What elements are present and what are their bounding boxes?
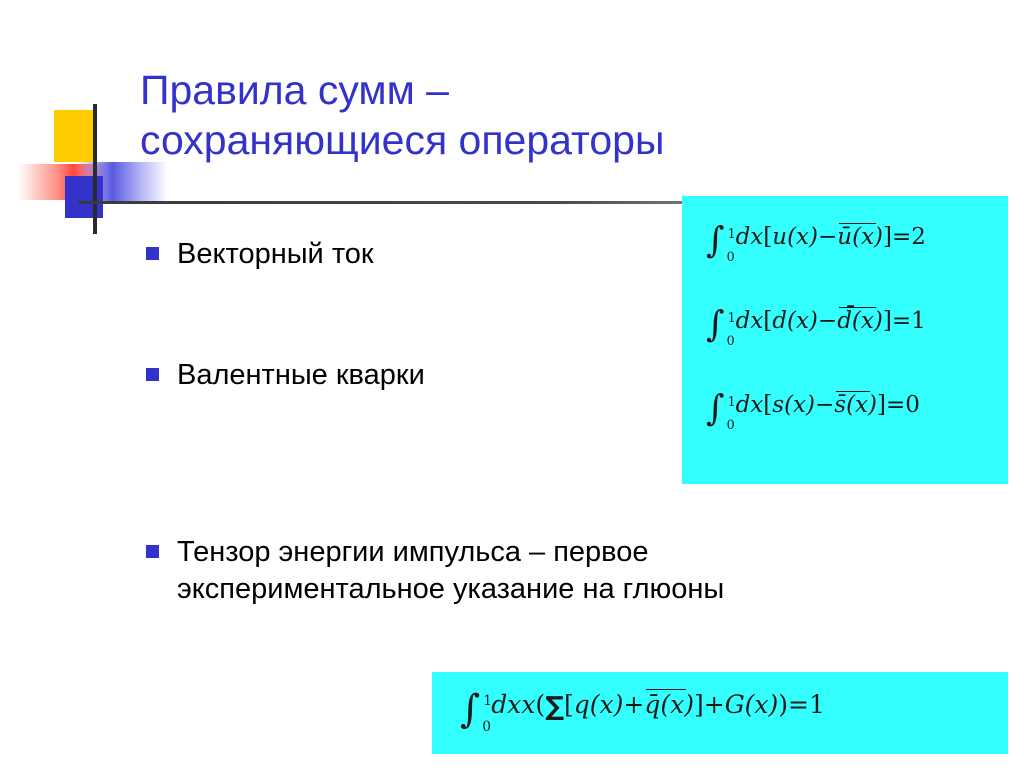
integral-sign: ∫: [706, 395, 725, 424]
term-qbar: q̄(x): [644, 690, 694, 719]
value: 1: [809, 690, 825, 719]
term-sbar: s̄(x): [834, 392, 877, 418]
plus-sign-2: +: [704, 690, 725, 719]
title-line-1: Правила сумм –: [140, 65, 940, 115]
list-item: Векторный ток: [146, 236, 374, 273]
bullet-marker-icon: [146, 368, 159, 381]
bullet-text: Тензор энергии импульса – первое экспери…: [177, 534, 846, 608]
list-item: Валентные кварки: [146, 357, 425, 394]
equation-momentum-sum-rule: ∫10dxx(∑[q(x)+q̄(x)]+G(x))=1: [460, 690, 825, 725]
blue-square: [65, 176, 103, 218]
decorative-corner-motif: [18, 104, 158, 234]
value: 1: [911, 308, 926, 334]
close-bracket: ]: [694, 690, 704, 719]
term-s: s(x): [772, 392, 815, 418]
close-bracket: ]: [883, 224, 892, 250]
differential: dx: [736, 392, 764, 418]
title-line-2: сохраняющиеся операторы: [140, 115, 940, 165]
differential: dx: [736, 308, 764, 334]
equals-sign: =: [892, 308, 911, 334]
list-item: Тензор энергии импульса – первое экспери…: [146, 534, 846, 608]
value: 0: [905, 392, 920, 418]
term-ubar: ū(x): [837, 224, 883, 250]
open-bracket: [: [763, 224, 772, 250]
close-paren: ): [778, 690, 788, 719]
differential: dx: [491, 690, 521, 719]
integral-sign: ∫: [706, 311, 725, 340]
x-variable: x: [521, 690, 535, 719]
term-q: q(x): [574, 690, 624, 719]
term-d: d(x): [772, 308, 818, 334]
yellow-square: [54, 110, 96, 162]
differential: dx: [736, 224, 764, 250]
bullet-marker-icon: [146, 545, 159, 558]
equals-sign: =: [892, 224, 911, 250]
formula-box-conserved-currents: ∫10dx[u(x)−ū(x)]=2 ∫10dx[d(x)−d̄(x)]=1 ∫…: [682, 196, 1008, 484]
plus-sign: +: [623, 690, 644, 719]
equals-sign: =: [886, 392, 905, 418]
summation-sign: ∑: [545, 692, 564, 722]
term-dbar: d̄(x): [837, 308, 883, 334]
term-gluon: G(x): [725, 690, 779, 719]
value: 2: [911, 224, 926, 250]
open-bracket: [: [564, 690, 574, 719]
close-bracket: ]: [877, 392, 886, 418]
equation-vector-current-u: ∫10dx[u(x)−ū(x)]=2: [706, 224, 926, 255]
formula-box-momentum-sum-rule: ∫10dxx(∑[q(x)+q̄(x)]+G(x))=1: [432, 672, 1008, 754]
integral-sign: ∫: [460, 694, 480, 725]
close-bracket: ]: [883, 308, 892, 334]
minus-sign: −: [818, 308, 837, 334]
open-bracket: [: [763, 392, 772, 418]
bullet-marker-icon: [146, 247, 159, 260]
bullet-text: Валентные кварки: [177, 357, 425, 394]
open-bracket: [: [763, 308, 772, 334]
term-u: u(x): [772, 224, 818, 250]
slide-title: Правила сумм – сохраняющиеся операторы: [140, 65, 940, 165]
equation-vector-current-d: ∫10dx[d(x)−d̄(x)]=1: [706, 308, 926, 339]
minus-sign: −: [818, 224, 837, 250]
open-paren: (: [535, 690, 545, 719]
equals-sign: =: [788, 690, 809, 719]
minus-sign: −: [815, 392, 834, 418]
equation-vector-current-s: ∫10dx[s(x)−s̄(x)]=0: [706, 392, 920, 423]
integral-sign: ∫: [706, 227, 725, 256]
vertical-rule: [93, 104, 97, 234]
bullet-text: Векторный ток: [177, 236, 374, 273]
